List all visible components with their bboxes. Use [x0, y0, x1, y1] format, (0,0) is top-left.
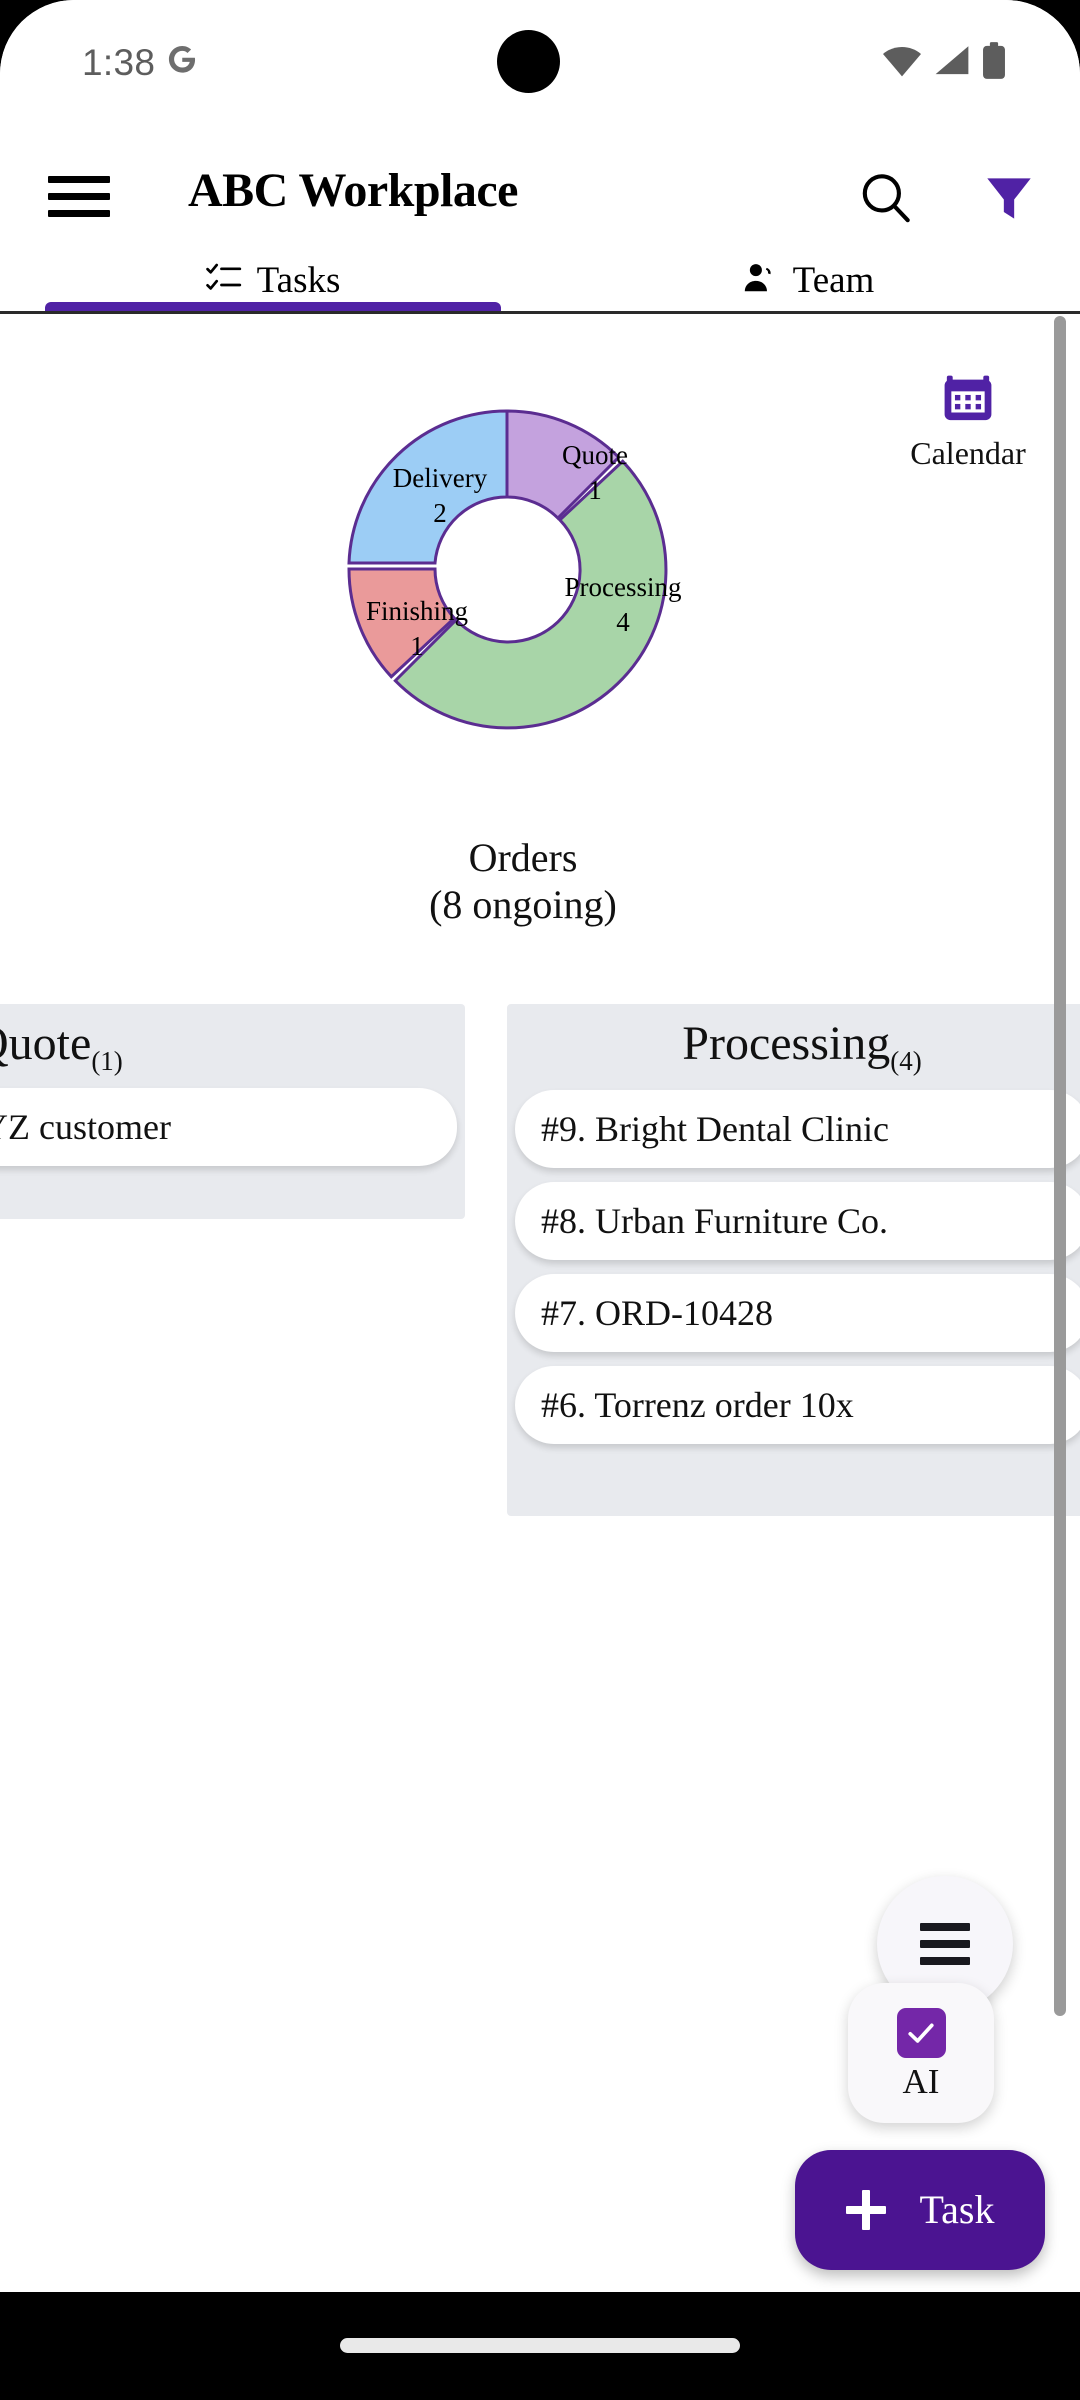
- task-card-title: #9. Bright Dental Clinic: [541, 1111, 889, 1147]
- orders-donut-chart[interactable]: Quote 1 Processing 4 Finishing 1 Deliver…: [262, 324, 752, 814]
- chart-title: Orders: [0, 834, 1046, 881]
- column-header: Processing (4): [507, 1004, 1080, 1084]
- menu-line: [48, 210, 110, 217]
- fab-add-task-button[interactable]: Task: [795, 2150, 1045, 2270]
- slice-value-quote: 1: [588, 475, 602, 505]
- column-count: (4): [890, 1048, 921, 1084]
- kanban-column-processing: Processing (4) #9. Bright Dental Clinic …: [507, 1004, 1080, 1516]
- front-camera-cutout: [497, 30, 560, 93]
- people-icon: [741, 259, 779, 302]
- slice-label-delivery: Delivery: [393, 463, 488, 493]
- calendar-icon: [941, 372, 995, 431]
- status-bar-icons: [882, 43, 1006, 79]
- app-bar: ABC Workplace: [0, 140, 1080, 250]
- checkbox-checked-icon: [897, 2008, 946, 2058]
- slice-value-delivery: 2: [433, 498, 447, 528]
- task-card[interactable]: #9. Bright Dental Clinic: [515, 1090, 1080, 1168]
- menu-line: [48, 176, 110, 183]
- column-title: Processing: [682, 1020, 890, 1068]
- cellular-signal-icon: [934, 44, 970, 78]
- chart-caption: Orders (8 ongoing): [0, 834, 1046, 928]
- hamburger-menu-icon[interactable]: [48, 172, 118, 220]
- checklist-icon: [205, 259, 243, 302]
- column-count: (1): [91, 1048, 122, 1084]
- slice-label-processing: Processing: [565, 572, 682, 602]
- tab-tasks[interactable]: Tasks: [45, 250, 500, 310]
- task-card[interactable]: #6. Torrenz order 10x: [515, 1366, 1080, 1444]
- menu-line: [920, 1923, 970, 1931]
- slice-value-processing: 4: [616, 607, 630, 637]
- fab-ai-button[interactable]: AI: [848, 1983, 994, 2123]
- chart-subtitle: (8 ongoing): [0, 881, 1046, 928]
- fab-task-label: Task: [920, 2190, 995, 2230]
- calendar-shortcut-label: Calendar: [878, 437, 1058, 469]
- menu-line: [920, 1940, 970, 1948]
- fab-ai-label: AI: [903, 2064, 940, 2099]
- tab-label: Team: [793, 262, 875, 299]
- phone-screen: 1:38: [0, 0, 1080, 2292]
- status-bar: 1:38: [0, 0, 1080, 100]
- task-card[interactable]: #8. Urban Furniture Co.: [515, 1182, 1080, 1260]
- vertical-scrollbar[interactable]: [1054, 314, 1066, 2292]
- tab-bar: Tasks Team: [0, 250, 1080, 310]
- task-card[interactable]: #7. ORD-10428: [515, 1274, 1080, 1352]
- task-card-title: #8. Urban Furniture Co.: [541, 1203, 888, 1239]
- page-title: ABC Workplace: [188, 163, 518, 218]
- device-frame: 1:38: [0, 0, 1080, 2400]
- google-g-icon: [165, 42, 199, 76]
- system-navigation-bar: [0, 2292, 1080, 2400]
- filter-funnel-icon[interactable]: [978, 167, 1040, 229]
- gesture-home-handle[interactable]: [340, 2338, 740, 2353]
- plus-icon: [846, 2190, 886, 2230]
- slice-label-quote: Quote: [562, 440, 628, 470]
- slice-label-finishing: Finishing: [366, 596, 468, 626]
- search-icon[interactable]: [855, 167, 917, 229]
- task-card-title: #6. Torrenz order 10x: [541, 1387, 854, 1423]
- column-header: Quote (1): [0, 1004, 465, 1084]
- slice-value-finishing: 1: [410, 631, 424, 661]
- menu-line: [48, 193, 110, 200]
- tab-team[interactable]: Team: [580, 250, 1035, 310]
- scrollbar-thumb[interactable]: [1054, 316, 1066, 2016]
- kanban-column-quote: Quote (1) YZ customer: [0, 1004, 465, 1219]
- task-card[interactable]: YZ customer: [0, 1088, 457, 1166]
- task-card-title: YZ customer: [0, 1109, 171, 1145]
- kanban-board: Quote (1) YZ customer Processing (4) #9.…: [0, 1004, 1080, 1544]
- menu-line: [920, 1957, 970, 1965]
- column-title: Quote: [0, 1020, 91, 1068]
- battery-icon: [982, 42, 1006, 80]
- wifi-icon: [882, 44, 922, 78]
- status-bar-clock: 1:38: [82, 44, 155, 81]
- calendar-shortcut[interactable]: Calendar: [878, 372, 1058, 469]
- task-card-title: #7. ORD-10428: [541, 1295, 773, 1331]
- tab-label: Tasks: [257, 262, 341, 299]
